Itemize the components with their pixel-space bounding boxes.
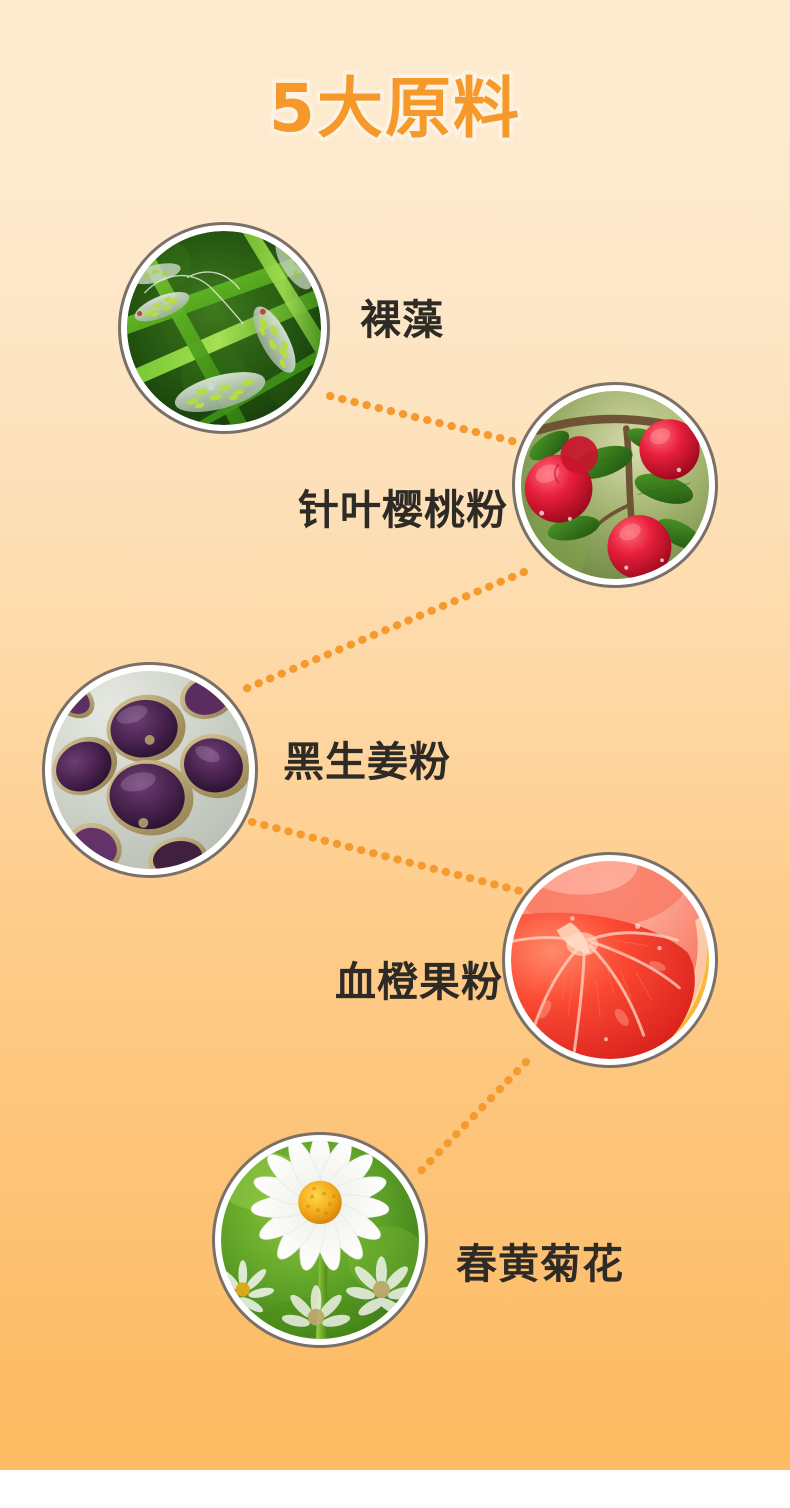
page-title: 5大原料 (0, 76, 790, 142)
ingredient-label-black-ginger: 黑生姜粉 (283, 742, 451, 783)
chamomile-flower-photo (221, 1141, 419, 1339)
ingredient-image-chamomile[interactable] (212, 1132, 428, 1348)
ingredient-image-black-ginger[interactable] (42, 662, 258, 878)
ingredient-image-blood-orange[interactable] (502, 852, 718, 1068)
black-ginger-photo (51, 671, 249, 869)
euglena-algae-photo (127, 231, 321, 425)
ingredient-label-acerola-cherry: 针叶樱桃粉 (298, 490, 508, 531)
blood-orange-photo (511, 861, 709, 1059)
ingredient-label-blood-orange: 血橙果粉 (335, 962, 503, 1003)
bottom-white-band (0, 1470, 790, 1508)
ingredient-label-euglena: 裸藻 (360, 300, 444, 341)
ingredient-image-euglena[interactable] (118, 222, 330, 434)
ingredients-infographic-page: 5大原料 (0, 0, 790, 1508)
acerola-cherry-photo (521, 391, 709, 579)
ingredient-label-chamomile: 春黄菊花 (456, 1244, 624, 1285)
ingredient-image-acerola-cherry[interactable] (512, 382, 718, 588)
